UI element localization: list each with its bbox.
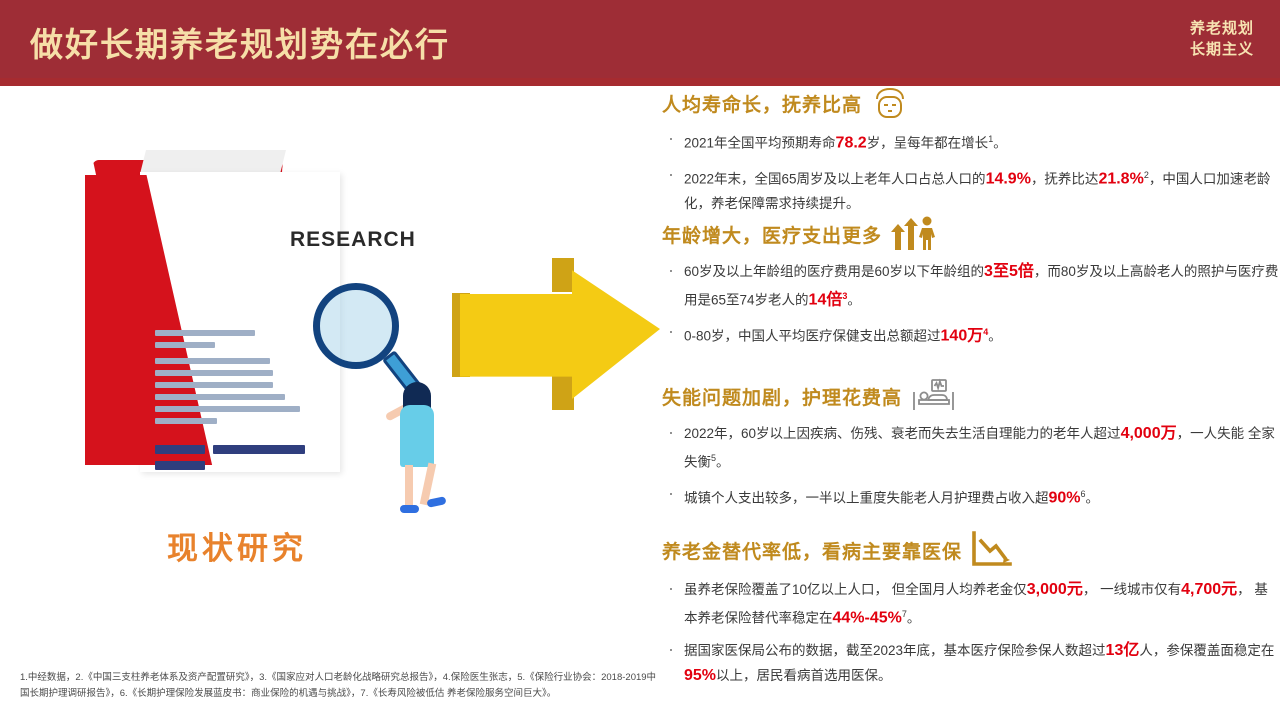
doc-line: [155, 382, 273, 388]
highlight-value: 78.2: [836, 135, 867, 152]
bullet-item: 城镇个人支出较多，一半以上重度失能老人月护理费占收入超90%6。: [662, 482, 1280, 511]
illustration-caption: 现状研究: [167, 523, 307, 568]
arrow-shadow-bottom: [552, 376, 574, 410]
highlight-value: 44%-45%: [833, 610, 902, 627]
bullet-list: 2021年全国平均预期寿命78.2岁，呈每年都在增长1。 2022年末，全国65…: [662, 127, 1280, 216]
highlight-value: 13亿: [1106, 642, 1140, 659]
slide-header: 做好长期养老规划势在必行 养老规划 长期主义: [0, 0, 1280, 86]
section-disability-care: 失能问题加剧，护理花费高2022年，60岁以上因疾病、伤残、衰老而失去生活自理能…: [662, 378, 1280, 517]
growth-people-icon: [890, 216, 936, 252]
bullet-text: 。: [988, 328, 1002, 343]
section-heading-text: 失能问题加剧，护理花费高: [662, 383, 902, 410]
section-pension-replacement: 养老金替代率低，看病主要靠医保虽养老保险覆盖了10亿以上人口， 但全国月人均养老…: [662, 530, 1280, 695]
research-label: RESEARCH: [290, 228, 416, 252]
bullet-text: 60岁及以上年龄组的医疗费用是60岁以下年龄组的: [684, 264, 984, 279]
bullet-item: 2022年末，全国65周岁及以上老年人口占总人口的14.9%，抚养比达21.8%…: [662, 163, 1280, 217]
bullet-text: 以上，居民看病首选用医保。: [716, 668, 892, 683]
brand-line-1: 养老规划: [1190, 18, 1254, 39]
bullet-list: 2022年，60岁以上因疾病、伤残、衰老而失去生活自理能力的老年人超过4,000…: [662, 421, 1280, 510]
bullet-text: 岁，呈每年都在增长: [867, 136, 989, 151]
bullet-item: 据国家医保局公布的数据，截至2023年底，基本医疗保险参保人数超过13亿人，参保…: [662, 638, 1280, 688]
bullet-text: 虽养老保险覆盖了10亿以上人口， 但全国月人均养老金仅: [684, 582, 1027, 597]
page-title: 做好长期养老规划势在必行: [30, 18, 450, 66]
bullet-text: 2021年全国平均预期寿命: [684, 136, 836, 151]
bullet-item: 2021年全国平均预期寿命78.2岁，呈每年都在增长1。: [662, 127, 1280, 156]
declining-chart-icon: [970, 530, 1016, 570]
right-arrow-icon: [452, 258, 667, 413]
highlight-value: 95%: [684, 667, 716, 684]
bullet-text: ， 一线城市仅有: [1083, 582, 1181, 597]
footnotes: 1.中经数据，2.《中国三支柱养老体系及资产配置研究》，3.《国家应对人口老龄化…: [20, 670, 660, 702]
bullet-text: 2022年，60岁以上因疾病、伤残、衰老而失去生活自理能力的老年人超过: [684, 426, 1121, 441]
bullet-text: 。: [847, 293, 861, 308]
highlight-value: 140万: [941, 327, 984, 344]
bullet-text: 0-80岁，中国人平均医疗保健支出总额超过: [684, 328, 941, 343]
slide-root: 做好长期养老规划势在必行 养老规划 长期主义 RESEARCH: [0, 0, 1280, 720]
doc-line: [155, 370, 273, 376]
bullet-text: 。: [907, 611, 921, 626]
hospital-bed-icon: [910, 378, 956, 414]
person-shoe: [426, 496, 446, 508]
bullet-item: 0-80岁，中国人平均医疗保健支出总额超过140万4。: [662, 320, 1280, 349]
section-heading-text: 人均寿命长，抚养比高: [662, 90, 862, 117]
highlight-value: 14倍: [809, 292, 843, 309]
doc-line-emphasis: [155, 445, 205, 454]
bullet-item: 60岁及以上年龄组的医疗费用是60岁以下年龄组的3至5倍，而80岁及以上高龄老人…: [662, 259, 1280, 313]
brand-mark: 养老规划 长期主义: [1190, 18, 1254, 60]
bullet-text: 据国家医保局公布的数据，截至2023年底，基本医疗保险参保人数超过: [684, 643, 1106, 658]
doc-line-emphasis: [213, 445, 305, 454]
folder-tab-icon: [140, 150, 286, 174]
highlight-value: 14.9%: [986, 170, 1031, 187]
arrow-shadow-top: [552, 258, 574, 292]
doc-line-emphasis: [155, 461, 205, 470]
bullet-text: 。: [993, 136, 1007, 151]
hospital-bed-icon: [910, 378, 956, 414]
highlight-value: 3至5倍: [984, 263, 1034, 280]
section-heading: 年龄增大，医疗支出更多: [662, 216, 1280, 252]
doc-line: [155, 394, 285, 400]
highlight-value: 4,000万: [1121, 425, 1177, 442]
highlight-value: 4,700元: [1181, 581, 1237, 598]
bullet-text: ，抚养比达: [1031, 171, 1099, 186]
content-sections: 人均寿命长，抚养比高2021年全国平均预期寿命78.2岁，呈每年都在增长1。 2…: [662, 86, 1280, 656]
bullet-text: 2022年末，全国65周岁及以上老年人口占总人口的: [684, 171, 986, 186]
bullet-text: 人，参保覆盖面稳定在: [1139, 643, 1274, 658]
bullet-item: 虽养老保险覆盖了10亿以上人口， 但全国月人均养老金仅3,000元， 一线城市仅…: [662, 577, 1280, 631]
section-heading: 人均寿命长，抚养比高: [662, 86, 1280, 120]
doc-line: [155, 418, 217, 424]
section-life-expectancy: 人均寿命长，抚养比高2021年全国平均预期寿命78.2岁，呈每年都在增长1。 2…: [662, 86, 1280, 223]
doc-line: [155, 330, 255, 336]
header-accent-bar: [0, 78, 1280, 86]
highlight-value: 3,000元: [1027, 581, 1083, 598]
brand-line-2: 长期主义: [1190, 39, 1254, 60]
bullet-list: 虽养老保险覆盖了10亿以上人口， 但全国月人均养老金仅3,000元， 一线城市仅…: [662, 577, 1280, 688]
bullet-text: 。: [1086, 490, 1100, 505]
growth-people-icon: [890, 216, 936, 252]
declining-chart-icon: [970, 530, 1016, 570]
doc-line: [155, 406, 300, 412]
section-medical-spending: 年龄增大，医疗支出更多60岁及以上年龄组的医疗费用是60岁以下年龄组的3至5倍，…: [662, 216, 1280, 355]
bullet-text: 城镇个人支出较多，一半以上重度失能老人月护理费占收入超: [684, 490, 1049, 505]
section-heading-text: 养老金替代率低，看病主要靠医保: [662, 537, 962, 564]
section-heading-text: 年龄增大，医疗支出更多: [662, 221, 882, 248]
person-body-icon: [400, 405, 434, 467]
elderly-face-icon: [870, 86, 910, 120]
bullet-item: 2022年，60岁以上因疾病、伤残、衰老而失去生活自理能力的老年人超过4,000…: [662, 421, 1280, 475]
highlight-value: 21.8%: [1098, 170, 1143, 187]
section-heading: 养老金替代率低，看病主要靠医保: [662, 530, 1280, 570]
person-leg: [405, 465, 413, 507]
person-shoe: [400, 505, 419, 513]
research-illustration: RESEARCH 现状研究: [55, 120, 455, 540]
section-heading: 失能问题加剧，护理花费高: [662, 378, 1280, 414]
doc-line: [155, 342, 215, 348]
elderly-face-icon: [870, 86, 910, 120]
bullet-text: 。: [716, 455, 730, 470]
highlight-value: 90%: [1049, 489, 1081, 506]
doc-line: [155, 358, 270, 364]
bullet-list: 60岁及以上年龄组的医疗费用是60岁以下年龄组的3至5倍，而80岁及以上高龄老人…: [662, 259, 1280, 348]
